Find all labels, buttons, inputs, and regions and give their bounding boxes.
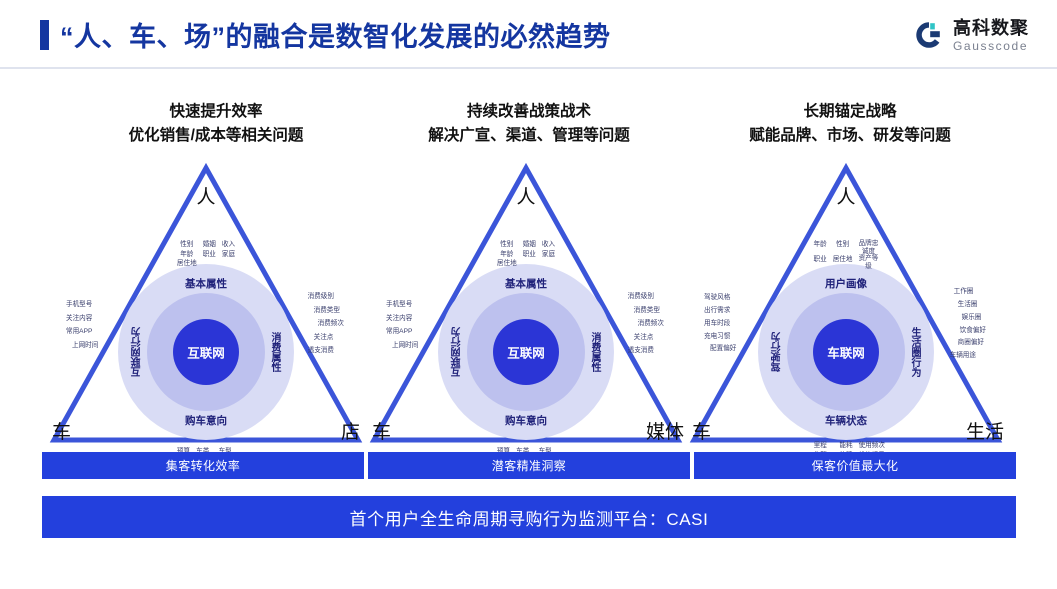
- circle-1-mid-bottom-label: 购车意向: [185, 413, 227, 428]
- triangle-3-bottom-right-label: 生活: [966, 417, 1004, 444]
- circle-1-attr-right: 消费级别 消费类型 消费频次 关注点 透支消费: [308, 290, 344, 358]
- attr-item: 年龄: [494, 250, 520, 260]
- attr-item: 居住地: [174, 259, 200, 269]
- circle-3-core-label: 车联网: [827, 343, 865, 362]
- circle-2-attr-right: 消费级别 消费类型 消费频次 关注点 透支消费: [628, 290, 664, 358]
- column-heading-2-line1: 持续改善战策战术: [467, 103, 591, 120]
- brand-logo-text: 高科数聚 Gausscode: [953, 19, 1029, 52]
- triangle-3-apex-label: 人: [836, 182, 855, 209]
- slide-canvas: “人、车、场”的融合是数智化发展的必然趋势 高科数聚 Gausscode 快速提…: [0, 0, 1057, 589]
- brand-name-cn: 高科数聚: [953, 19, 1029, 37]
- attr-item: 常用APP: [386, 325, 418, 339]
- attr-item: 工作圈: [950, 286, 986, 299]
- attr-item: 生活圈: [950, 299, 986, 312]
- attr-item: 出行需求: [704, 305, 736, 318]
- attr-item: 配置偏好: [704, 343, 736, 356]
- attr-item: 充电习惯: [704, 331, 736, 344]
- header-divider: [0, 67, 1057, 69]
- concentric-diagram-3: 车联网 用户画像 车辆状态 驾驶行为 生活圈行为 年龄 性别 品牌忠诚度 职业 …: [758, 264, 934, 440]
- column-heading-3-line2: 赋能品牌、市场、研发等问题: [680, 124, 1020, 148]
- attr-item: 透支消费: [628, 344, 664, 358]
- circle-1-mid-left-label: 互联网行为: [130, 327, 145, 377]
- circle-1-attr-left: 手机型号 关注内容 常用APP 上网时间: [66, 298, 98, 352]
- triangle-2-apex-label: 人: [516, 182, 535, 209]
- attr-item: 职业: [811, 255, 830, 270]
- attr-item: 消费类型: [308, 304, 344, 318]
- circle-1-mid-right-label: 消费属性: [267, 332, 282, 372]
- circle-2-mid-right-label: 消费属性: [587, 332, 602, 372]
- attr-item: 关注内容: [386, 312, 418, 326]
- column-heading-3-line1: 长期锚定战略: [803, 103, 896, 120]
- page-title: “人、车、场”的融合是数智化发展的必然趋势: [60, 15, 611, 54]
- attr-item: 上网时间: [386, 339, 418, 353]
- attr-item: 使用频次: [856, 441, 888, 451]
- main-platform-banner[interactable]: 首个用户全生命周期寻购行为监测平台：CASI: [42, 496, 1016, 538]
- attr-item: 年龄: [811, 240, 830, 255]
- column-heading-2-line2: 解决广宣、渠道、管理等问题: [359, 124, 699, 148]
- attr-item: 消费频次: [628, 317, 664, 331]
- attr-item: 关注点: [628, 331, 664, 345]
- attr-item: 消费级别: [308, 290, 344, 304]
- attr-item: 居住地: [494, 259, 520, 269]
- attr-item: 手机型号: [386, 298, 418, 312]
- panel-2: 人 车 媒体 互联网 基本属性 购车意向 互联网行为 消费属性 性别 婚姻 收入…: [366, 160, 686, 448]
- concentric-diagram-1: 互联网 基本属性 购车意向 互联网行为 消费属性 性别 婚姻 收入 年龄 职业 …: [118, 264, 294, 440]
- column-heading-2: 持续改善战策战术 解决广宣、渠道、管理等问题: [359, 100, 699, 148]
- attr-item: 关注点: [308, 331, 344, 345]
- attr-item: 收入: [219, 240, 238, 250]
- attr-item: 家庭: [539, 250, 558, 260]
- triangle-1-bottom-right-label: 店: [341, 417, 360, 444]
- attr-item: 饮食偏好: [950, 325, 986, 338]
- attr-item: 性别: [830, 240, 856, 255]
- attr-item: 商圈偏好: [950, 337, 986, 350]
- attr-item: 收入: [539, 240, 558, 250]
- circle-3-mid-top-label: 用户画像: [825, 276, 867, 291]
- sub-banner-1[interactable]: 集客转化效率: [42, 452, 364, 479]
- slide-header: “人、车、场”的融合是数智化发展的必然趋势 高科数聚 Gausscode: [0, 0, 1057, 68]
- circle-3-mid-right-label: 生活圈行为: [907, 327, 922, 377]
- circle-3-mid-left-label: 驾驶行为: [770, 332, 785, 372]
- attr-item: 消费类型: [628, 304, 664, 318]
- attr-item: 年龄: [174, 250, 200, 260]
- attr-item: 上网时间: [66, 339, 98, 353]
- circle-3-mid-bottom-label: 车辆状态: [825, 413, 867, 428]
- attr-item: 能耗: [836, 441, 855, 451]
- attr-item: 职业: [200, 250, 219, 260]
- attr-item: 婚姻: [200, 240, 219, 250]
- circle-2-mid-left-label: 互联网行为: [450, 327, 465, 377]
- circle-3-attr-right: 工作圈 生活圈 娱乐圈 饮食偏好 商圈偏好 车辆用途: [950, 286, 986, 363]
- attr-item: 品牌忠诚度: [855, 240, 881, 255]
- brand-logo: 高科数聚 Gausscode: [913, 14, 1029, 56]
- attr-item: 资产等级: [855, 255, 881, 270]
- circle-2-core-label: 互联网: [507, 343, 545, 362]
- title-accent-bar: [40, 20, 49, 50]
- attr-item: 居住地: [830, 255, 856, 270]
- triangle-2-bottom-right-label: 媒体: [646, 417, 684, 444]
- triangle-1-apex-label: 人: [196, 182, 215, 209]
- concentric-diagram-2: 互联网 基本属性 购车意向 互联网行为 消费属性 性别 婚姻 收入 年龄 职业 …: [438, 264, 614, 440]
- attr-item: 用车时段: [704, 318, 736, 331]
- attr-item: 婚姻: [520, 240, 539, 250]
- brand-name-en: Gausscode: [953, 40, 1029, 52]
- attr-item: 娱乐圈: [950, 312, 986, 325]
- attr-item: 消费频次: [308, 317, 344, 331]
- circle-1-mid-top-label: 基本属性: [185, 276, 227, 291]
- panel-1: 人 车 店 互联网 基本属性 购车意向 互联网行为 消费属性 性别 婚姻 收入 …: [46, 160, 366, 448]
- triangle-1-bottom-left-label: 车: [52, 417, 71, 444]
- attr-item: 职业: [520, 250, 539, 260]
- attr-item: 关注内容: [66, 312, 98, 326]
- circle-1-core-label: 互联网: [187, 343, 225, 362]
- gausscode-c-mark-icon: [913, 19, 945, 51]
- column-heading-1: 快速提升效率 优化销售/成本等相关问题: [46, 100, 386, 148]
- attr-item: 性别: [494, 240, 520, 250]
- attr-item: 手机型号: [66, 298, 98, 312]
- circle-3-attr-top: 年龄 性别 品牌忠诚度 职业 居住地 资产等级: [811, 240, 882, 270]
- attr-item: 消费级别: [628, 290, 664, 304]
- circle-2-attr-top: 性别 婚姻 收入 年龄 职业 家庭 居住地: [494, 240, 558, 269]
- column-heading-3: 长期锚定战略 赋能品牌、市场、研发等问题: [680, 100, 1020, 148]
- circle-1-attr-top: 性别 婚姻 收入 年龄 职业 家庭 居住地: [174, 240, 238, 269]
- sub-banner-2[interactable]: 潜客精准洞察: [368, 452, 690, 479]
- attr-item: 驾驶风格: [704, 292, 736, 305]
- triangle-2-bottom-left-label: 车: [372, 417, 391, 444]
- circle-3-attr-left: 驾驶风格 出行需求 用车时段 充电习惯 配置偏好: [704, 292, 736, 356]
- column-heading-1-line2: 优化销售/成本等相关问题: [46, 124, 386, 148]
- circle-2-mid-bottom-label: 购车意向: [505, 413, 547, 428]
- triangle-3-bottom-left-label: 车: [692, 417, 711, 444]
- attr-item: 透支消费: [308, 344, 344, 358]
- column-heading-1-line1: 快速提升效率: [169, 103, 262, 120]
- panel-3: 人 车 生活 车联网 用户画像 车辆状态 驾驶行为 生活圈行为 年龄 性别 品牌…: [686, 160, 1006, 448]
- attr-item: 常用APP: [66, 325, 98, 339]
- sub-banner-3[interactable]: 保客价值最大化: [694, 452, 1016, 479]
- circle-2-mid-top-label: 基本属性: [505, 276, 547, 291]
- attr-item: 车辆用途: [950, 350, 986, 363]
- attr-item: 里程: [804, 441, 836, 451]
- attr-item: 家庭: [219, 250, 238, 260]
- circle-2-attr-left: 手机型号 关注内容 常用APP 上网时间: [386, 298, 418, 352]
- attr-item: 性别: [174, 240, 200, 250]
